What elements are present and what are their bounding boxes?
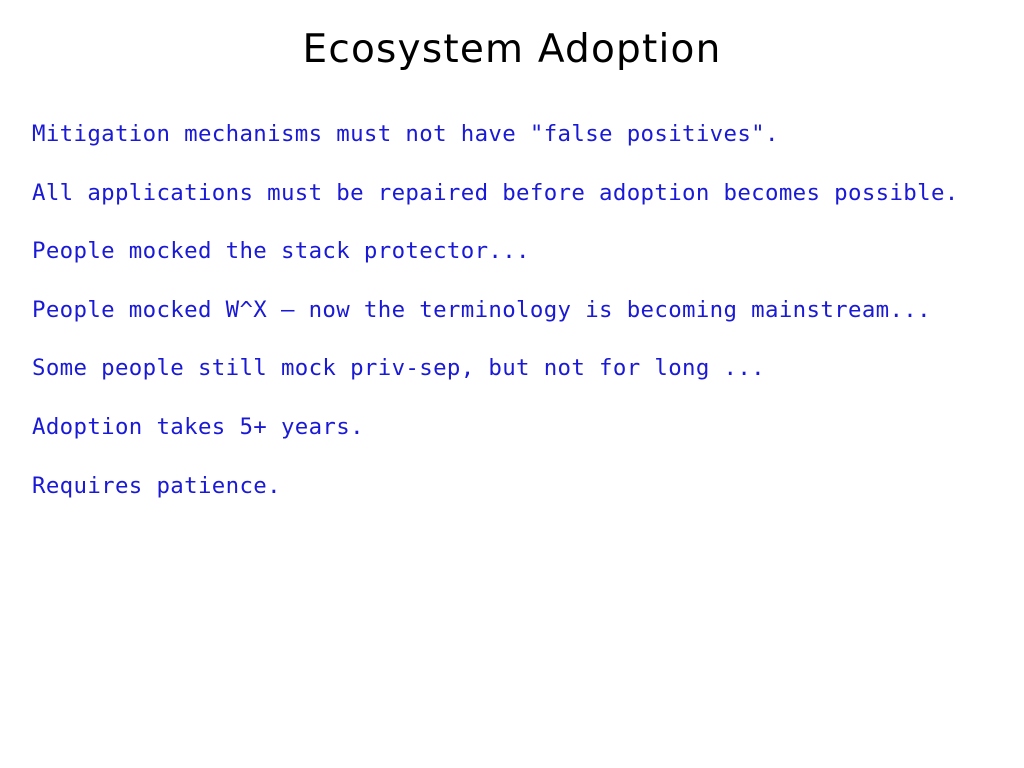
list-item: Some people still mock priv-sep, but not… bbox=[32, 356, 1002, 381]
list-item: People mocked W^X – now the terminology … bbox=[32, 298, 1002, 323]
page-title: Ecosystem Adoption bbox=[0, 27, 1024, 73]
list-item: Mitigation mechanisms must not have "fal… bbox=[32, 122, 1002, 147]
list-item: Adoption takes 5+ years. bbox=[32, 415, 1002, 440]
presentation-slide: Ecosystem Adoption Mitigation mechanisms… bbox=[0, 0, 1024, 768]
bullet-list: Mitigation mechanisms must not have "fal… bbox=[32, 122, 1002, 499]
list-item: Requires patience. bbox=[32, 474, 1002, 499]
list-item: People mocked the stack protector... bbox=[32, 239, 1002, 264]
list-item: All applications must be repaired before… bbox=[32, 181, 1002, 206]
